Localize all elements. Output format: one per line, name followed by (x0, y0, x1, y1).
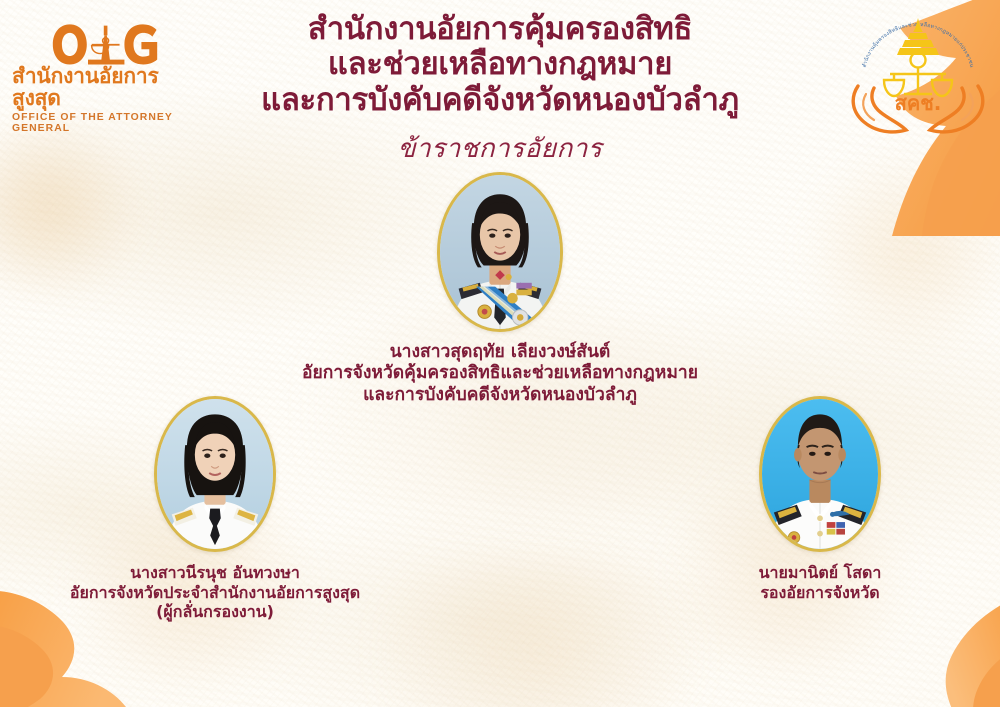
page-title: สำนักงานอัยการคุ้มครองสิทธิ และช่วยเหลือ… (140, 12, 860, 118)
page-subtitle: ข้าราชการอัยการ (398, 128, 603, 169)
sorkorchor-emblem: สำนักงานคุ้มครองสิทธิและช่วยเหลือทางกฎหม… (842, 2, 994, 136)
person-name-chief: นางสาวสุดฤทัย เลียงวงษ์สันต์ (250, 342, 750, 363)
portrait-frame-right (759, 396, 881, 552)
title-line-3: และการบังคับคดีจังหวัดหนองบัวลำภู (140, 83, 860, 118)
portrait-frame-chief (437, 172, 563, 332)
person-title-left-2: (ผู้กลั่นกรองงาน) (0, 602, 430, 622)
person-title-left-1: อัยการจังหวัดประจำสำนักงานอัยการสูงสุด (0, 583, 430, 603)
person-card-left: นางสาวนีรนุช อันทวงษา อัยการจังหวัดประจำ… (0, 396, 430, 622)
person-caption-right: นายมานิตย์ โสดา รองอัยการจังหวัด (640, 563, 1000, 602)
brush-decoration-bottom-right (796, 587, 1000, 707)
portrait-photo-right (762, 399, 878, 549)
portrait-photo-left (157, 399, 273, 549)
person-name-right: นายมานิตย์ โสดา (640, 563, 1000, 583)
person-card-right: นายมานิตย์ โสดา รองอัยการจังหวัด (640, 396, 1000, 602)
title-line-1: สำนักงานอัยการคุ้มครองสิทธิ (140, 12, 860, 47)
person-title-chief-1: อัยการจังหวัดคุ้มครองสิทธิและช่วยเหลือทา… (250, 363, 750, 384)
person-caption-left: นางสาวนีรนุช อันทวงษา อัยการจังหวัดประจำ… (0, 563, 430, 622)
person-title-right-1: รองอัยการจังหวัด (640, 583, 1000, 603)
poster-canvas: สำนักงานอัยการสูงสุด OFFICE OF THE ATTOR… (0, 0, 1000, 707)
person-name-left: นางสาวนีรนุช อันทวงษา (0, 563, 430, 583)
person-card-chief: นางสาวสุดฤทัย เลียงวงษ์สันต์ อัยการจังหว… (250, 172, 750, 406)
portrait-photo-chief (440, 175, 560, 329)
title-line-2: และช่วยเหลือทางกฎหมาย (140, 47, 860, 82)
portrait-frame-left (154, 396, 276, 552)
emblem-abbreviation: สคช. (895, 91, 942, 115)
